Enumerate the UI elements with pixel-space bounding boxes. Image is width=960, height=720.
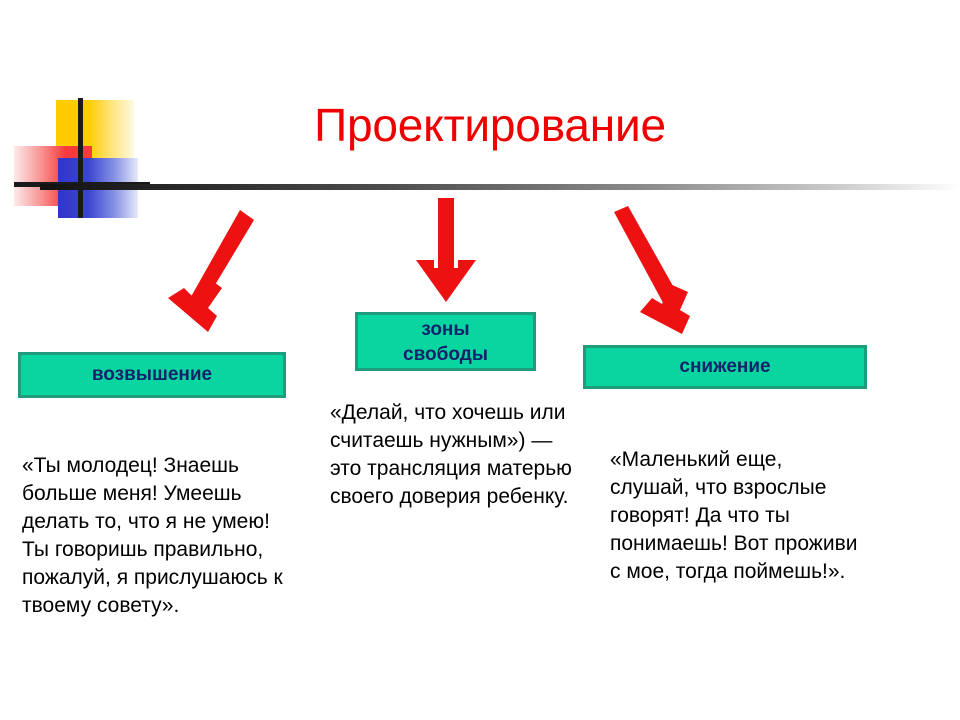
title-divider: [40, 184, 960, 190]
box-vozvyshenie-label: возвышение: [92, 363, 212, 387]
box-zony-svobody-label: зоны свободы: [403, 317, 488, 367]
text-zony-svobody: «Делай, что хочешь или считаешь нужным»)…: [330, 399, 580, 511]
box-snizhenie-label: снижение: [679, 355, 770, 379]
box-vozvyshenie[interactable]: возвышение: [18, 352, 286, 398]
box-snizhenie[interactable]: снижение: [583, 345, 867, 389]
slide-canvas: Проектирование возвышение зоны свободы с…: [0, 0, 960, 720]
arrow-to-vozvyshenie-icon: [162, 206, 272, 346]
text-snizhenie: «Маленький еще, слушай, что взрослые гов…: [610, 446, 860, 586]
text-vozvyshenie: «Ты молодец! Знаешь больше меня! Умеешь …: [22, 452, 290, 620]
arrow-to-snizhenie-icon: [596, 206, 706, 346]
box-zony-svobody[interactable]: зоны свободы: [355, 312, 536, 371]
crosshair-vertical-line-icon: [78, 98, 83, 218]
page-title: Проектирование: [170, 97, 810, 153]
arrow-to-zony-svobody-icon: [408, 198, 488, 308]
decorative-logo-mark: [14, 98, 150, 218]
